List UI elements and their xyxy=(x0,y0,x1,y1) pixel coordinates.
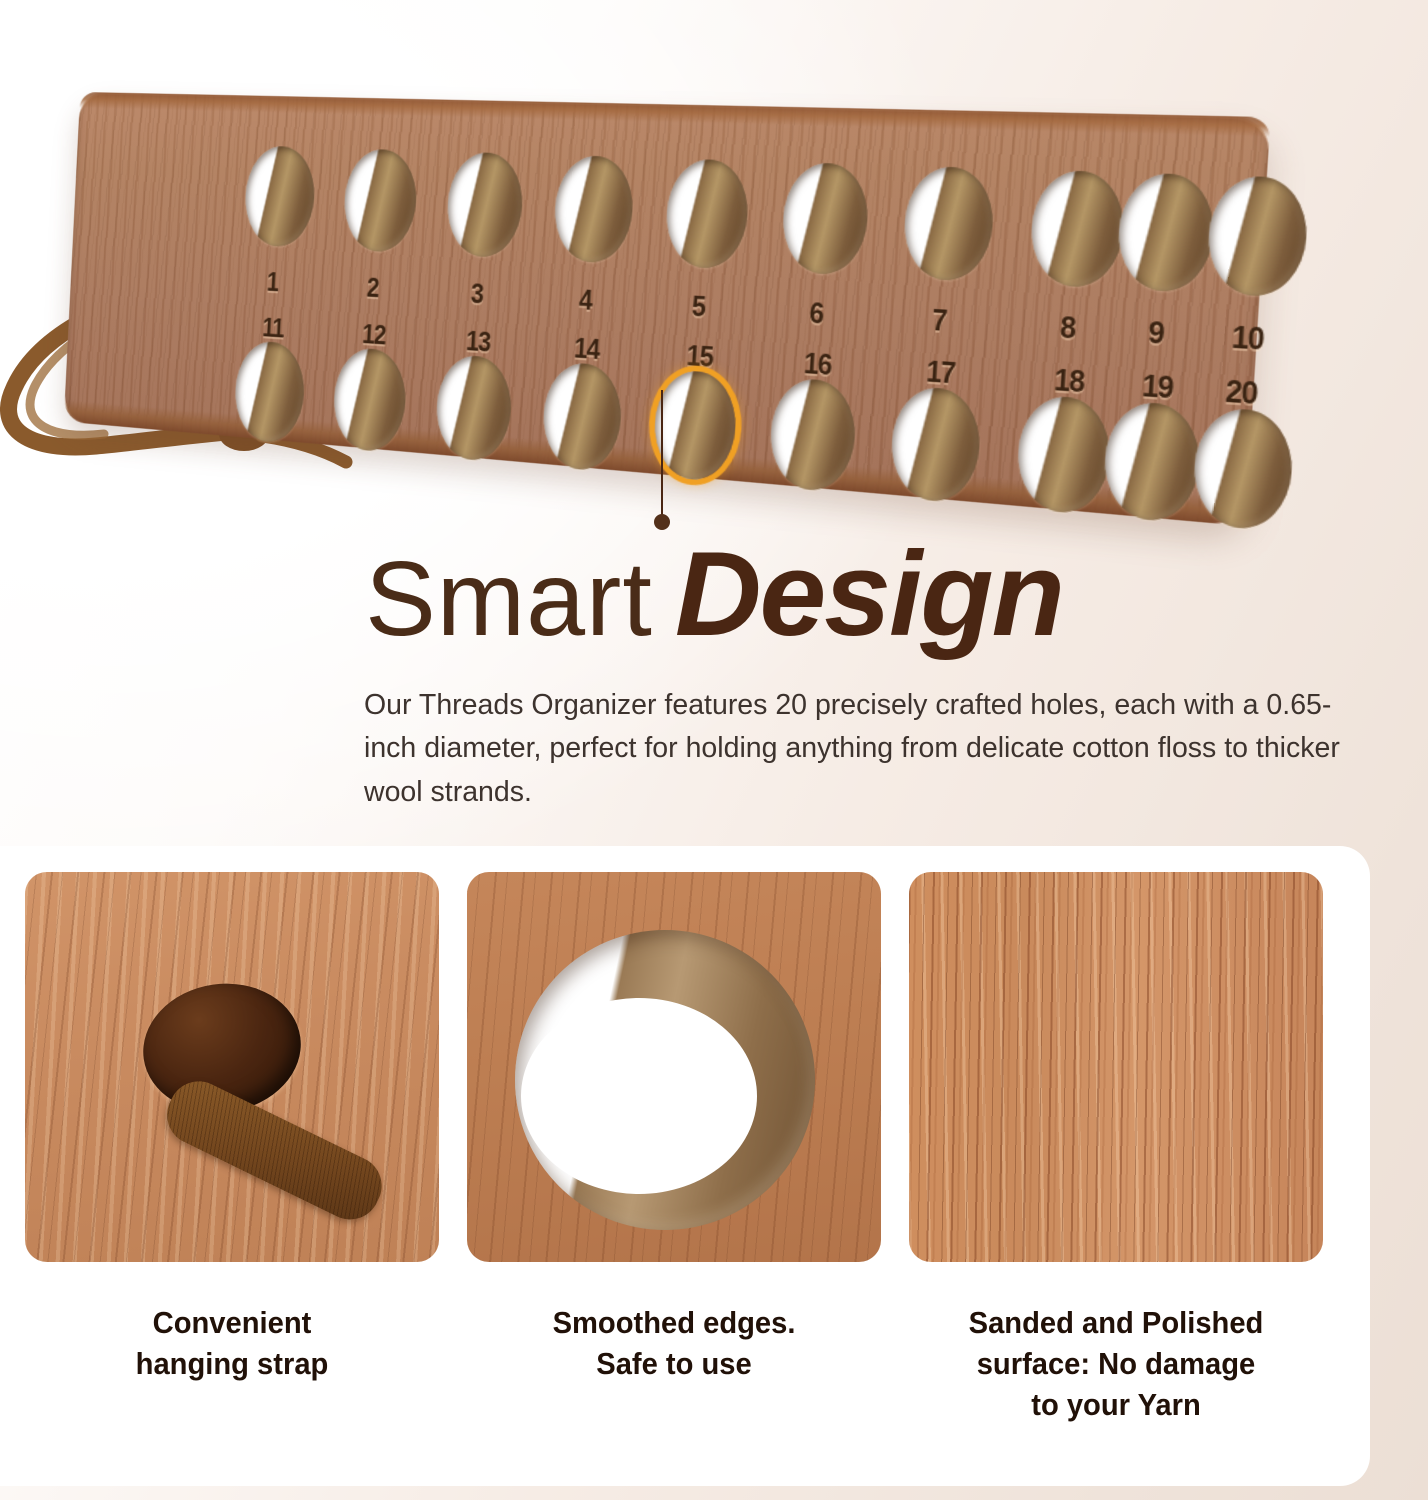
hole-label-1: 1 xyxy=(266,268,279,299)
hole-label-9: 9 xyxy=(1147,316,1164,353)
features-row: Convenient hanging strap Smoothed edges.… xyxy=(0,846,1428,1486)
hole-label-18: 18 xyxy=(1053,364,1085,401)
feature-item-3: Sanded and Polished surface: No damage t… xyxy=(909,872,1323,1426)
feature-item-2: Smoothed edges. Safe to use xyxy=(467,872,881,1384)
sanded-wood-surface-photo xyxy=(909,872,1323,1262)
hole-opening-icon xyxy=(521,998,757,1194)
page-title: SmartDesign xyxy=(0,534,1428,654)
hole-label-20: 20 xyxy=(1224,375,1258,413)
feature-caption-2-line2: Safe to use xyxy=(479,1343,868,1384)
hole-label-17: 17 xyxy=(925,356,955,392)
smoothed-hole-edge-closeup-photo xyxy=(467,872,881,1262)
hole-label-14: 14 xyxy=(573,334,600,368)
feature-caption-1-line2: hanging strap xyxy=(37,1343,426,1384)
hole-label-7: 7 xyxy=(931,305,947,340)
feature-caption-2-line1: Smoothed edges. xyxy=(479,1302,868,1343)
feature-item-1: Convenient hanging strap xyxy=(25,872,439,1384)
hole-label-15: 15 xyxy=(686,341,714,376)
hanging-strap-closeup-photo xyxy=(25,872,439,1262)
product-feature-page: 1 2 3 4 5 6 7 8 9 10 11 12 13 14 15 16 1… xyxy=(0,0,1428,1500)
hole-label-16: 16 xyxy=(803,348,832,383)
description-paragraph: Our Threads Organizer features 20 precis… xyxy=(364,684,1344,814)
hole-label-13: 13 xyxy=(465,327,491,360)
hole-label-4: 4 xyxy=(578,285,592,318)
hole-label-6: 6 xyxy=(808,298,823,332)
hole-label-8: 8 xyxy=(1059,312,1076,348)
headline-bold-word: Design xyxy=(675,527,1063,661)
feature-caption-3: Sanded and Polished surface: No damage t… xyxy=(921,1302,1310,1426)
feature-caption-1-line1: Convenient xyxy=(37,1302,426,1343)
feature-caption-3-line2: surface: No damage xyxy=(921,1343,1310,1384)
hole-label-12: 12 xyxy=(361,320,386,353)
callout-leader-dot xyxy=(654,514,670,530)
hole-label-2: 2 xyxy=(366,274,379,306)
callout-leader-line xyxy=(661,390,663,516)
feature-caption-2: Smoothed edges. Safe to use xyxy=(479,1302,868,1384)
feature-caption-3-line3: to your Yarn xyxy=(921,1384,1310,1425)
feature-caption-1: Convenient hanging strap xyxy=(37,1302,426,1384)
hole-label-10: 10 xyxy=(1231,321,1265,359)
feature-caption-3-line1: Sanded and Polished xyxy=(921,1302,1310,1343)
hole-label-3: 3 xyxy=(470,279,484,311)
hole-label-11: 11 xyxy=(262,314,284,346)
hole-label-19: 19 xyxy=(1141,370,1174,408)
hole-label-5: 5 xyxy=(691,291,706,325)
leather-strap-detail-icon xyxy=(157,1071,392,1229)
hero-product-photo: 1 2 3 4 5 6 7 8 9 10 11 12 13 14 15 16 1… xyxy=(0,0,1428,520)
headline-light-word: Smart xyxy=(365,540,653,658)
